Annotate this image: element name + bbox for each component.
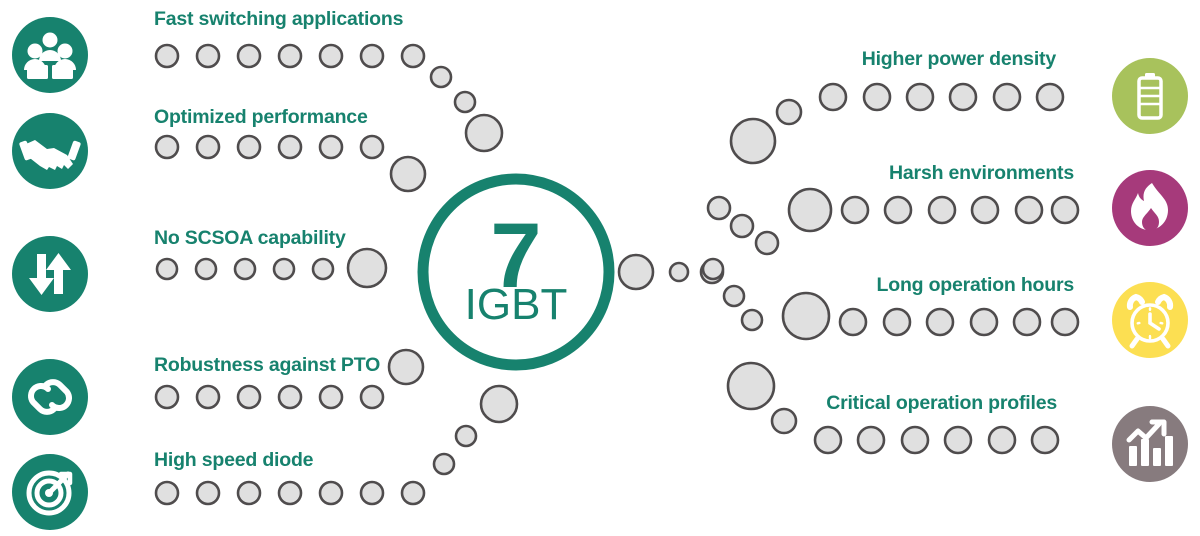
- icon-disc: [12, 236, 88, 312]
- connector-dot: [772, 409, 796, 433]
- connector-dot: [361, 45, 383, 67]
- feature-label: No SCSOA capability: [154, 229, 346, 249]
- battery-icon: [1112, 58, 1188, 134]
- growth-chart-icon: [1112, 406, 1188, 482]
- dot-branch-right-branch-1: [731, 84, 1063, 163]
- dot-branch-right-branch-2: [708, 189, 1078, 254]
- connector-dot: [927, 309, 953, 335]
- connector-dot: [756, 232, 778, 254]
- connector-dot: [989, 427, 1015, 453]
- connector-dot: [783, 293, 829, 339]
- connector-dot: [238, 386, 260, 408]
- connector-dot: [389, 350, 423, 384]
- connector-dot: [481, 386, 517, 422]
- connector-dot: [815, 427, 841, 453]
- connector-dot: [455, 92, 475, 112]
- connector-dot: [728, 363, 774, 409]
- connector-dot: [858, 427, 884, 453]
- connector-dot: [156, 482, 178, 504]
- connector-dot: [950, 84, 976, 110]
- feature-label: Optimized performance: [154, 108, 368, 128]
- connector-dot: [196, 259, 216, 279]
- connector-dot: [820, 84, 846, 110]
- dot-branch-right-branch-3: [703, 259, 1078, 339]
- connector-dot: [279, 136, 301, 158]
- icon-disc: [12, 359, 88, 435]
- connector-dot: [402, 482, 424, 504]
- connector-dot: [402, 45, 424, 67]
- connector-dot: [1052, 197, 1078, 223]
- connector-dot: [235, 259, 255, 279]
- connector-dot: [320, 482, 342, 504]
- handshake-icon: [12, 113, 88, 189]
- up-down-arrows-icon: [12, 236, 88, 312]
- connector-dot: [1052, 309, 1078, 335]
- dot-branch-left-branch-2: [156, 136, 425, 191]
- connector-dot: [279, 45, 301, 67]
- feature-label: High speed diode: [154, 451, 313, 471]
- team-icon: [12, 17, 88, 93]
- connector-dot: [274, 259, 294, 279]
- connector-dot: [840, 309, 866, 335]
- connector-dot: [157, 259, 177, 279]
- connector-dot: [197, 482, 219, 504]
- connector-dot: [708, 197, 730, 219]
- feature-label: Harsh environments: [889, 164, 1074, 184]
- connector-dot: [197, 45, 219, 67]
- connector-dot: [238, 482, 260, 504]
- connector-dot: [320, 386, 342, 408]
- connector-dot: [320, 136, 342, 158]
- center-subtitle: IGBT: [465, 283, 568, 327]
- connector-dot: [466, 115, 502, 151]
- connector-dot: [156, 136, 178, 158]
- connector-dot: [1014, 309, 1040, 335]
- connector-dot: [945, 427, 971, 453]
- connector-dot: [156, 386, 178, 408]
- connector-dot: [1037, 84, 1063, 110]
- connector-dot: [731, 215, 753, 237]
- target-icon: [12, 454, 88, 530]
- connector-dot: [1016, 197, 1042, 223]
- feature-label: Long operation hours: [877, 276, 1074, 296]
- connector-dot: [313, 259, 333, 279]
- feature-label: Fast switching applications: [154, 10, 403, 30]
- connector-dot: [279, 386, 301, 408]
- connector-dot: [156, 45, 178, 67]
- connector-dot: [361, 482, 383, 504]
- connector-dot: [197, 136, 219, 158]
- connector-dot: [907, 84, 933, 110]
- connector-dot: [731, 119, 775, 163]
- connector-dot: [842, 197, 868, 223]
- infographic-root: 7 IGBT Fast switching applicationsOptimi…: [0, 0, 1200, 536]
- feature-label: Higher power density: [862, 50, 1056, 70]
- connector-dot: [864, 84, 890, 110]
- feature-label: Critical operation profiles: [826, 394, 1057, 414]
- connector-dot: [361, 386, 383, 408]
- connector-dot: [279, 482, 301, 504]
- connector-dot: [789, 189, 831, 231]
- dot-branch-left-branch-3: [157, 249, 386, 287]
- connector-dot: [972, 197, 998, 223]
- connector-dot: [884, 309, 910, 335]
- connector-dot: [742, 310, 762, 330]
- connector-dot: [724, 286, 744, 306]
- connector-dot: [670, 263, 688, 281]
- connector-dot: [1032, 427, 1058, 453]
- alarm-clock-icon: [1112, 282, 1188, 358]
- connector-dot: [320, 45, 342, 67]
- connector-dot: [434, 454, 454, 474]
- connector-dot: [197, 386, 219, 408]
- connector-dot: [902, 427, 928, 453]
- icon-disc: [1112, 406, 1188, 482]
- connector-dot: [777, 100, 801, 124]
- connector-dot: [238, 45, 260, 67]
- feature-label: Robustness against PTO: [154, 356, 380, 376]
- connector-dot: [994, 84, 1020, 110]
- flame-icon: [1112, 170, 1188, 246]
- chain-link-icon: [12, 359, 88, 435]
- connector-dot: [238, 136, 260, 158]
- connector-dot: [885, 197, 911, 223]
- connector-dot: [431, 67, 451, 87]
- connector-dot: [361, 136, 383, 158]
- connector-dot: [929, 197, 955, 223]
- connector-dot: [703, 259, 723, 279]
- connector-dot: [619, 255, 653, 289]
- connector-dot: [971, 309, 997, 335]
- connector-dot: [456, 426, 476, 446]
- connector-dot: [391, 157, 425, 191]
- connector-dot: [348, 249, 386, 287]
